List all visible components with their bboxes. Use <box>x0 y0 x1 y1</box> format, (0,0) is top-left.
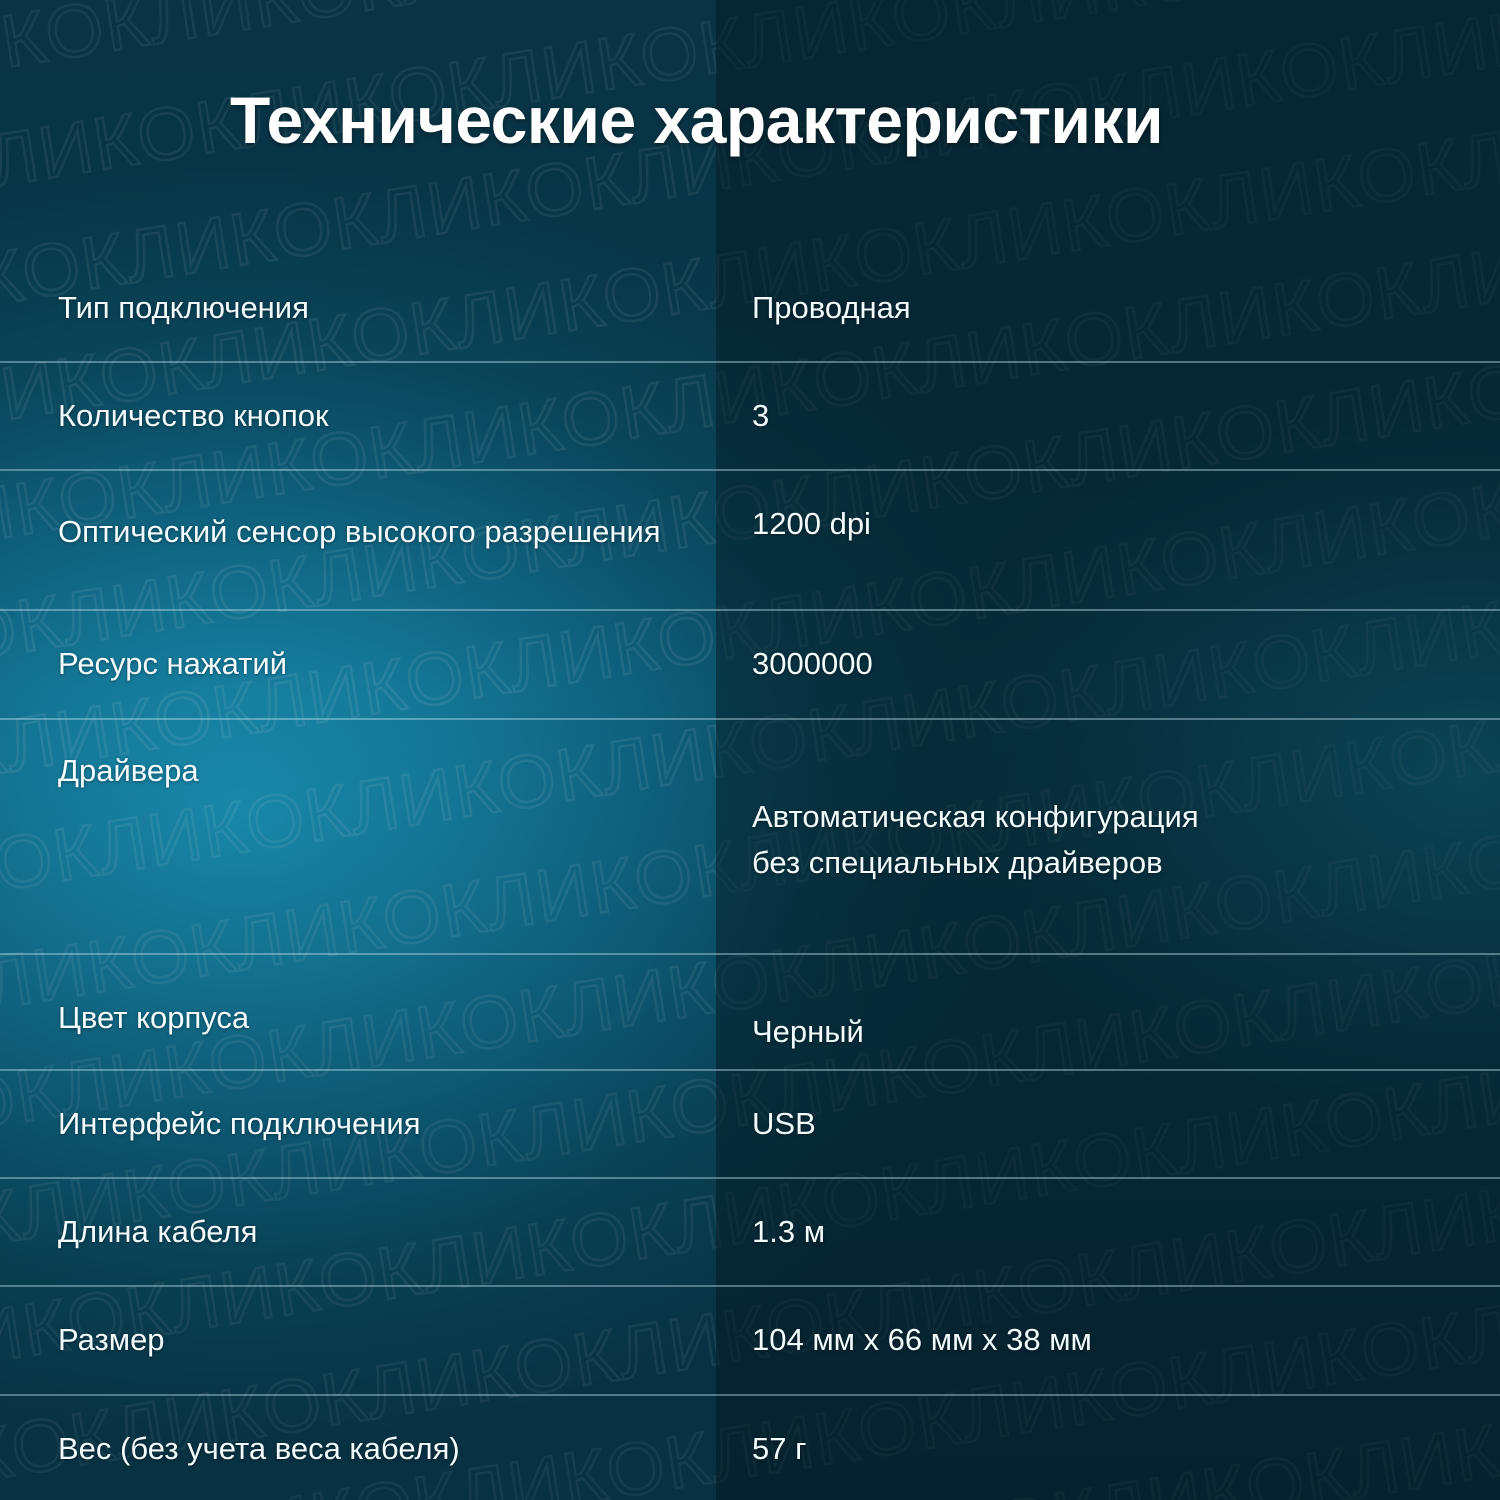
specifications-table: Тип подключения Проводная Количество кно… <box>0 255 1500 1500</box>
spec-label: Размер <box>0 1287 716 1393</box>
table-row: Количество кнопок 3 <box>0 361 1500 469</box>
spec-value: 1200 dpi <box>716 471 1500 577</box>
spec-value: 3000000 <box>716 611 1500 717</box>
table-row: Оптический сенсор высокого разрешения 12… <box>0 469 1500 609</box>
spec-value: 104 мм x 66 мм x 38 мм <box>716 1287 1500 1393</box>
content-layer: Технические характеристики Тип подключен… <box>0 0 1500 1500</box>
page-title: Технические характеристики <box>230 82 1163 158</box>
table-row: Тип подключения Проводная <box>0 255 1500 361</box>
spec-label: Ресурс нажатий <box>0 611 716 717</box>
spec-label: Количество кнопок <box>0 363 716 469</box>
spec-label: Драйвера <box>0 720 716 906</box>
spec-label: Вес (без учета веса кабеля) <box>0 1396 716 1500</box>
spec-label: Тип подключения <box>0 255 716 361</box>
table-row: Размер 104 мм x 66 мм x 38 мм <box>0 1285 1500 1393</box>
spec-sheet-canvas: КЛИКОКЛИКОКЛИКОКЛИКОКЛИКОКЛИКОКЛИКОКЛИКО… <box>0 0 1500 1500</box>
table-row: Длина кабеля 1.3 м <box>0 1177 1500 1285</box>
spec-value: 57 г <box>716 1396 1500 1500</box>
spec-value: Автоматическая конфигурация без специаль… <box>716 720 1500 953</box>
spec-value: 3 <box>716 363 1500 469</box>
spec-value: Черный <box>716 955 1500 1069</box>
table-row: Драйвера Автоматическая конфигурация без… <box>0 718 1500 953</box>
table-row: Ресурс нажатий 3000000 <box>0 609 1500 717</box>
spec-label: Оптический сенсор высокого разрешения <box>0 471 716 609</box>
spec-value: 1.3 м <box>716 1179 1500 1285</box>
spec-value: USB <box>716 1071 1500 1177</box>
spec-value-line-1: Автоматическая конфигурация <box>752 794 1470 841</box>
table-row: Вес (без учета веса кабеля) 57 г <box>0 1394 1500 1500</box>
spec-label: Интерфейс подключения <box>0 1071 716 1177</box>
table-row: Цвет корпуса Черный <box>0 953 1500 1069</box>
table-row: Интерфейс подключения USB <box>0 1069 1500 1177</box>
spec-label: Длина кабеля <box>0 1179 716 1285</box>
spec-label: Цвет корпуса <box>0 955 716 1069</box>
spec-value-line-2: без специальных драйверов <box>752 840 1470 887</box>
spec-value: Проводная <box>716 255 1500 361</box>
